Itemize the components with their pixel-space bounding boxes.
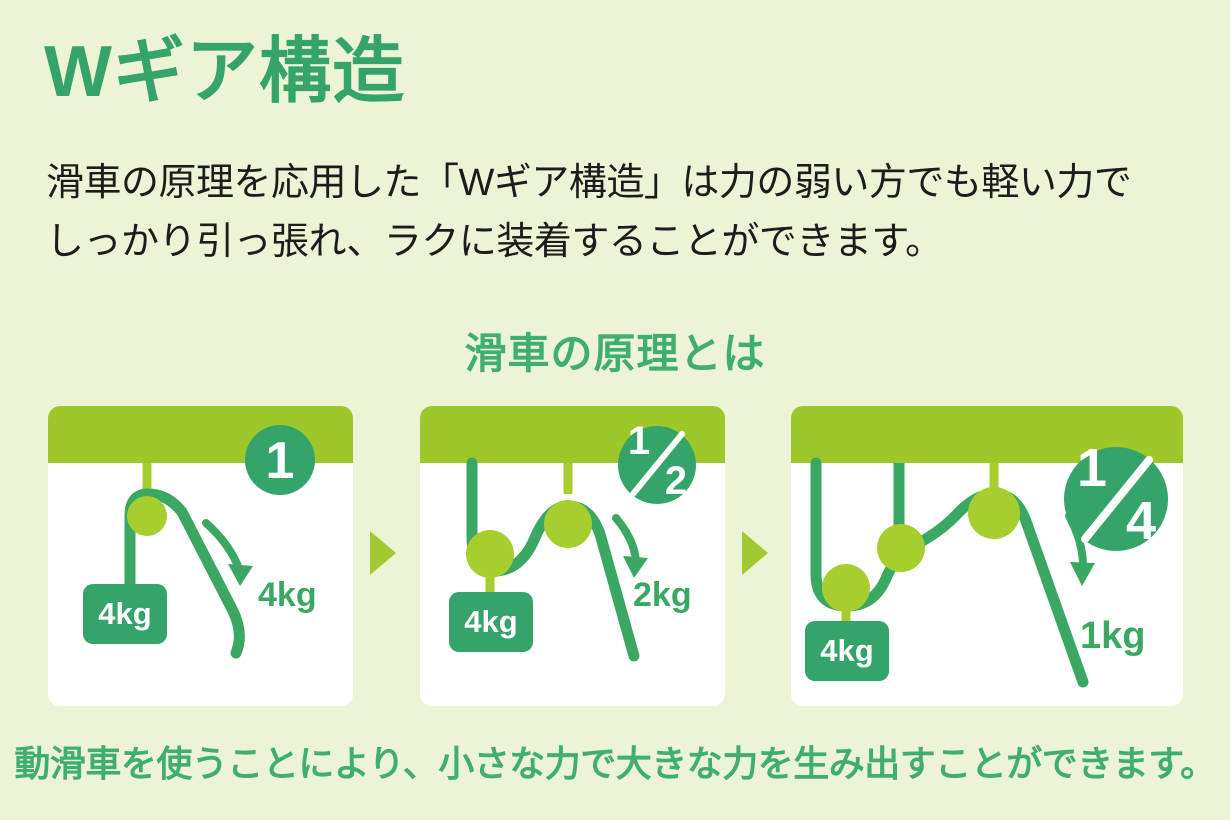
pulley-panel-3: 4kg 1kg 1 4: [791, 406, 1183, 706]
pulley-wheel-middle: [877, 524, 925, 572]
step-separator-arrow-1-icon: [370, 531, 396, 575]
section-subtitle: 滑車の原理とは: [0, 320, 1230, 381]
force-arrow-shaft: [616, 518, 636, 561]
step-separator-arrow-2-icon: [742, 531, 768, 575]
pulley-panel-1: 4kg 4kg 1: [48, 406, 353, 706]
ratio-badge-numerator: 1: [628, 419, 650, 463]
pulley-wheel-movable: [466, 530, 514, 578]
weight-label: 4kg: [464, 604, 517, 639]
pulley-wheel-right: [968, 487, 1020, 539]
force-arrow-head: [623, 556, 648, 578]
pulley-wheel-movable: [822, 564, 870, 612]
pulley-diagram-1: 4kg 4kg 1: [48, 406, 353, 706]
force-arrow-head: [1070, 562, 1095, 586]
weight-label: 4kg: [820, 633, 873, 668]
force-label: 1kg: [1080, 615, 1145, 657]
lede-paragraph: 滑車の原理を応用した「Wギア構造」は力の弱い方でも軽い力で しっかり引っ張れ、ラ…: [46, 154, 1196, 272]
pulley-wheel-fixed: [544, 500, 592, 548]
force-label: 4kg: [258, 576, 317, 614]
lede-line-2: しっかり引っ張れ、ラクに装着することができます。: [46, 213, 1196, 272]
pulley-diagram-row: 4kg 4kg 1: [0, 406, 1230, 716]
weight-label: 4kg: [98, 596, 151, 631]
force-label: 2kg: [633, 576, 692, 614]
page-title: Wギア構造: [44, 36, 405, 108]
footer-caption: 動滑車を使うことにより、小さな力で大きな力を生み出すことができます。: [0, 735, 1230, 787]
pulley-panel-2: 4kg 2kg 1 2: [420, 406, 725, 706]
infographic-root: Wギア構造 滑車の原理を応用した「Wギア構造」は力の弱い方でも軽い力で しっかり…: [0, 0, 1230, 820]
ratio-badge-denominator: 2: [665, 459, 687, 503]
force-arrow-head: [228, 564, 253, 586]
pulley-diagram-2: 4kg 2kg 1 2: [420, 406, 725, 706]
pulley-wheel-1: [127, 496, 167, 536]
ratio-badge-label: 1: [266, 432, 295, 490]
ratio-badge-numerator: 1: [1077, 438, 1107, 498]
lede-line-1: 滑車の原理を応用した「Wギア構造」は力の弱い方でも軽い力で: [46, 154, 1196, 213]
ratio-badge-denominator: 4: [1126, 491, 1156, 551]
pulley-diagram-3: 4kg 1kg 1 4: [791, 406, 1183, 706]
